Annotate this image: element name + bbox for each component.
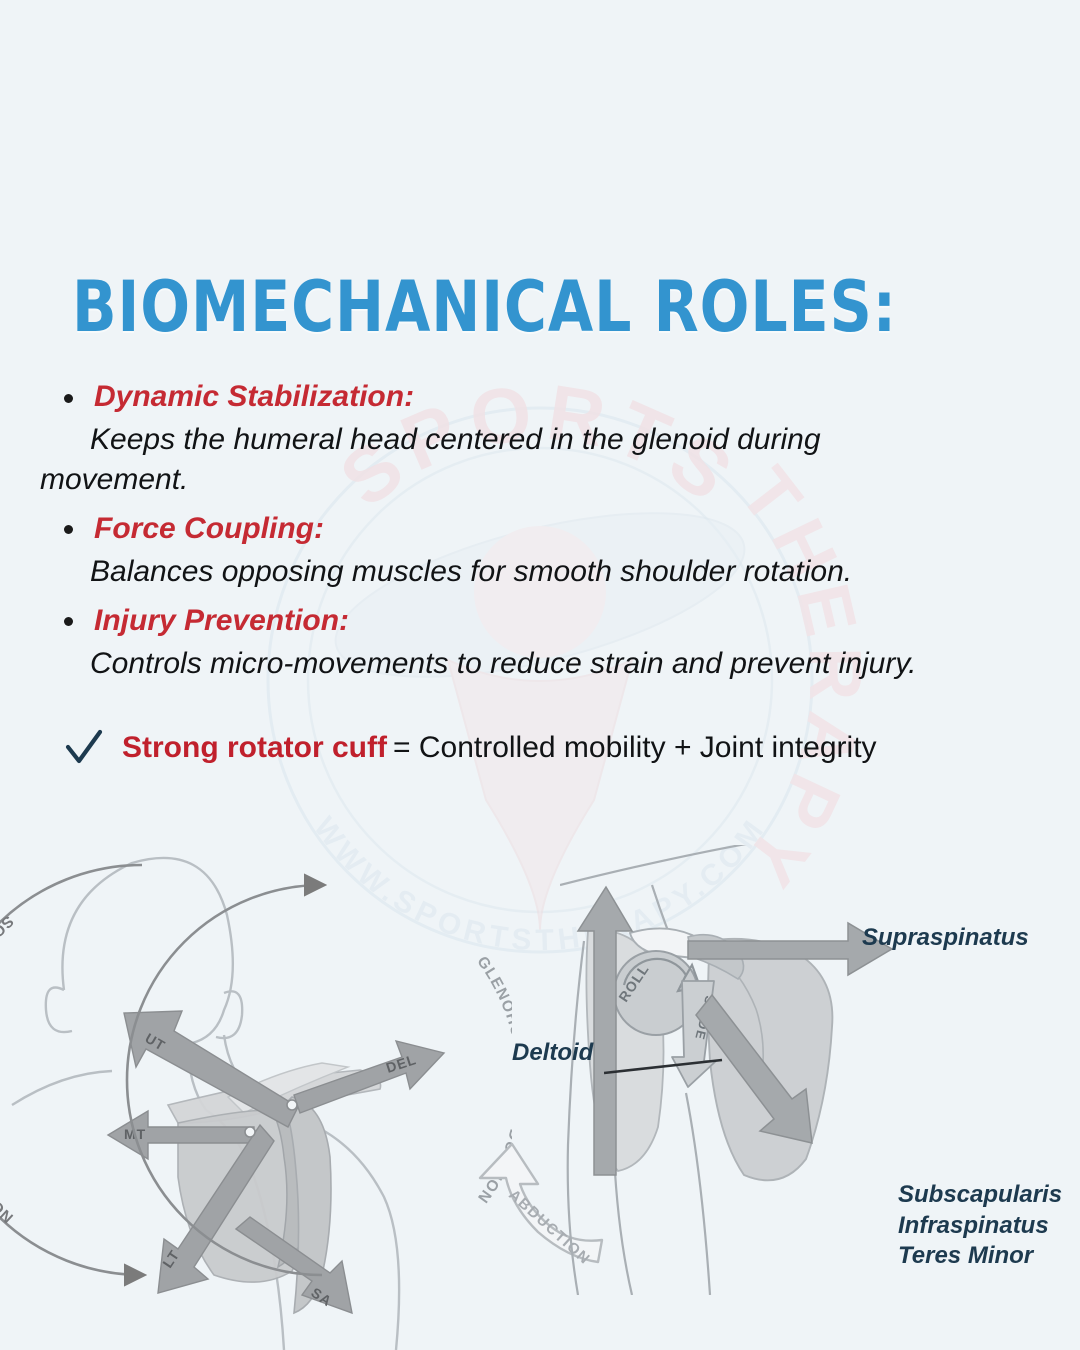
bullet-body: Keeps the humeral head centered in the g… <box>42 420 1042 499</box>
bullet-body: Controls micro-movements to reduce strai… <box>42 644 1042 684</box>
biomechanical-roles-list: Dynamic Stabilization: Keeps the humeral… <box>42 378 1042 694</box>
svg-text:SCAPULOTHORACIC UPWARD ROTATIO: SCAPULOTHORACIC UPWARD ROTATION <box>0 912 17 1228</box>
list-item: Force Coupling: Balances opposing muscle… <box>42 510 1042 592</box>
bullet-dot-icon <box>64 617 73 626</box>
label-infraspinatus: Infraspinatus <box>898 1211 1062 1242</box>
poster-canvas: SPORTS THERAPY WWW.SPORTSTHERAPY.COM BIO… <box>0 0 1080 1350</box>
label-teres-minor: Teres Minor <box>898 1241 1062 1272</box>
arc-label-scapulothoracic: SCAPULOTHORACIC UPWARD ROTATION <box>0 912 17 1228</box>
page-title: BIOMECHANICAL ROLES: <box>72 272 897 342</box>
label-supraspinatus: Supraspinatus <box>862 923 1029 954</box>
bullet-dot-icon <box>64 525 73 534</box>
bullet-dot-icon <box>64 394 73 403</box>
summary-strong-text: Strong rotator cuff <box>122 731 387 765</box>
bullet-body: Balances opposing muscles for smooth sho… <box>42 552 1042 592</box>
list-item: Injury Prevention: Controls micro-moveme… <box>42 602 1042 684</box>
check-icon <box>64 728 104 768</box>
bullet-heading: Injury Prevention: <box>42 602 1042 640</box>
summary-rest-text: = Controlled mobility + Joint integrity <box>393 731 877 765</box>
label-subscapularis: Subscapularis <box>898 1180 1062 1211</box>
bullet-heading: Dynamic Stabilization: <box>42 378 1042 416</box>
summary-line: Strong rotator cuff = Controlled mobilit… <box>64 728 877 768</box>
deltoid-leader-line <box>604 1056 724 1080</box>
label-cuff-muscle-group: Subscapularis Infraspinatus Teres Minor <box>898 1180 1062 1272</box>
scapulohumeral-rhythm-diagram: UT MT LT SA DEL SCAPULOTHORACIC UPWARD R… <box>0 805 512 1350</box>
bullet-heading: Force Coupling: <box>42 510 1042 548</box>
label-deltoid: Deltoid <box>512 1038 593 1069</box>
list-item: Dynamic Stabilization: Keeps the humeral… <box>42 378 1042 500</box>
